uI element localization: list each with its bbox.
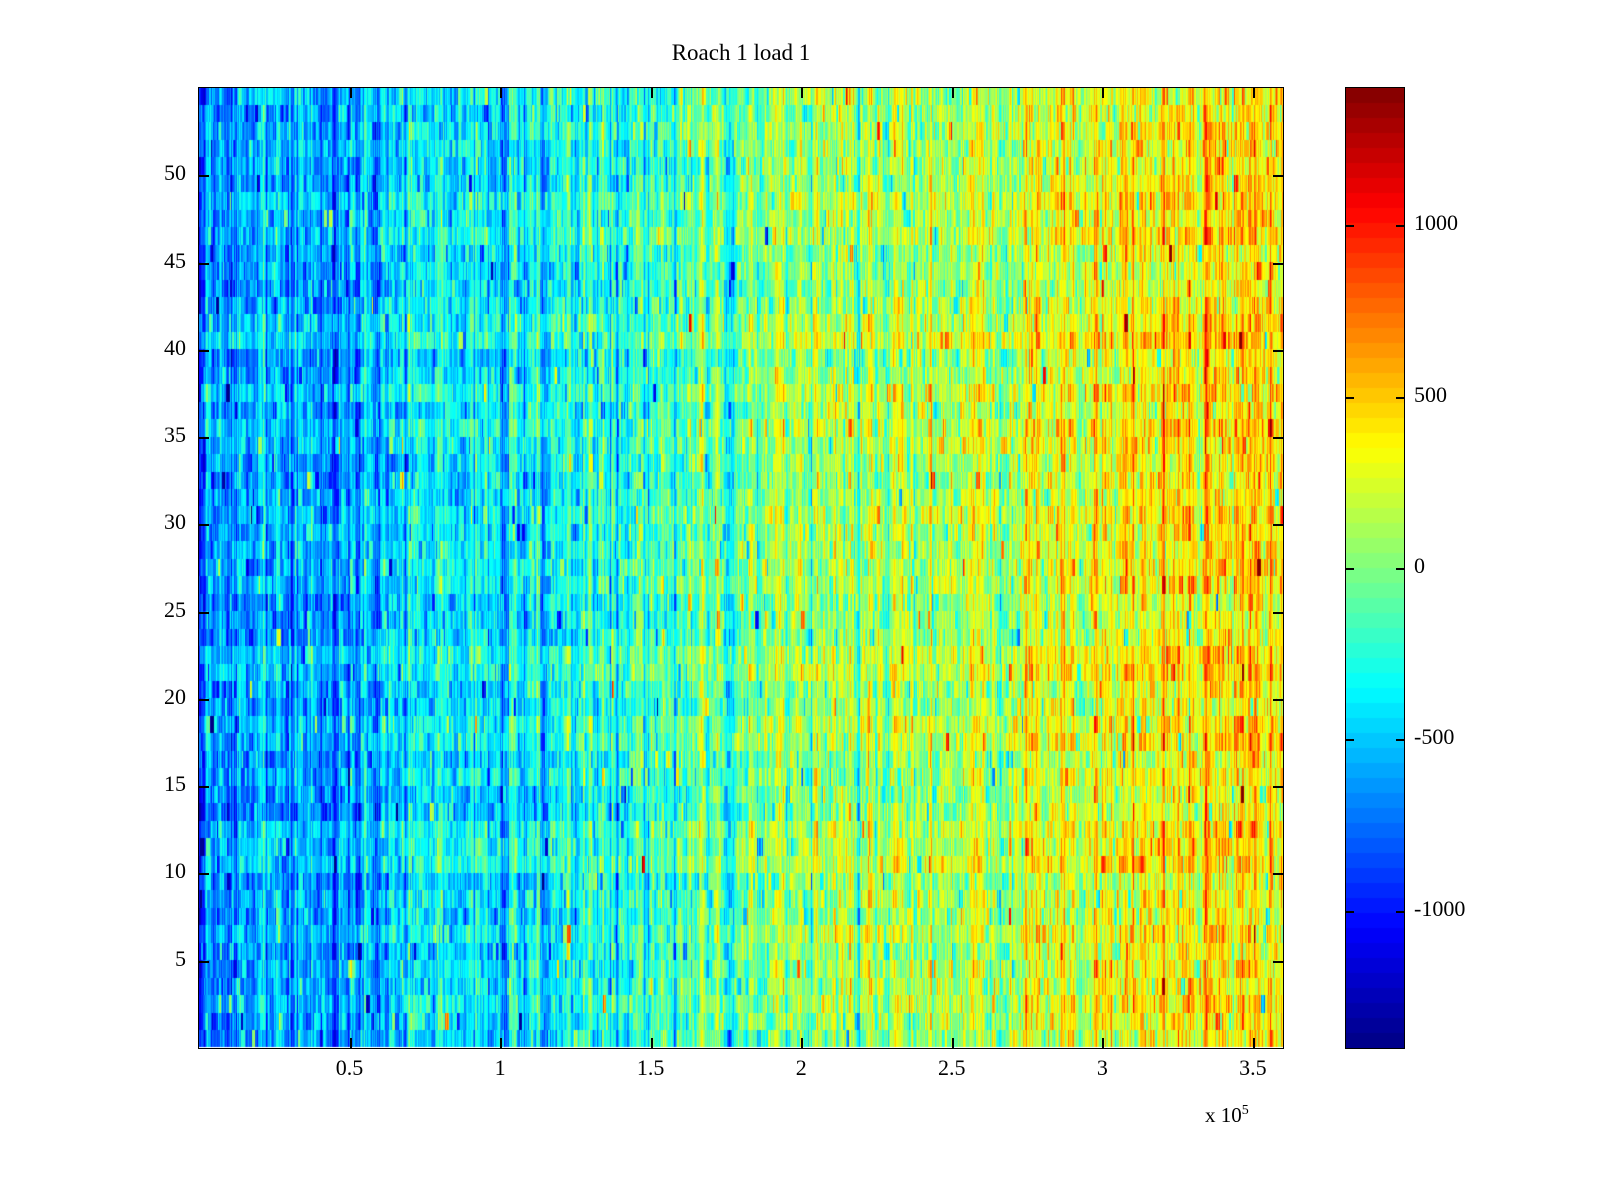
y-tick-mark-right (1273, 437, 1284, 439)
y-tick-mark-right (1273, 873, 1284, 875)
y-tick-mark-right (1273, 175, 1284, 177)
y-tick-label: 10 (116, 858, 186, 884)
colorbar-tick-mark-left (1345, 911, 1354, 913)
colorbar-tick-mark-right (1396, 225, 1405, 227)
y-tick-mark (198, 612, 209, 614)
y-tick-mark (198, 263, 209, 265)
x-tick-mark (952, 1038, 954, 1049)
heatmap-axes (198, 87, 1284, 1049)
colorbar-tick-mark-left (1345, 739, 1354, 741)
y-tick-label: 35 (116, 422, 186, 448)
y-tick-label: 20 (116, 684, 186, 710)
colorbar-tick-mark-left (1345, 568, 1354, 570)
y-tick-label: 40 (116, 335, 186, 361)
x-tick-mark (500, 1038, 502, 1049)
colorbar-tick-label: 1000 (1414, 210, 1458, 236)
y-tick-mark (198, 175, 209, 177)
y-tick-mark (198, 437, 209, 439)
y-tick-mark-right (1273, 961, 1284, 963)
y-tick-mark-right (1273, 350, 1284, 352)
y-tick-label: 15 (116, 771, 186, 797)
x-exponent-power: 5 (1242, 1103, 1249, 1118)
x-tick-label: 3 (1062, 1055, 1142, 1081)
colorbar-tick-label: 0 (1414, 553, 1425, 579)
x-tick-mark-top (651, 87, 653, 98)
y-tick-label: 5 (116, 946, 186, 972)
colorbar-tick-label: 500 (1414, 382, 1447, 408)
x-tick-mark (1102, 1038, 1104, 1049)
y-tick-mark-right (1273, 699, 1284, 701)
x-tick-mark-top (952, 87, 954, 98)
colorbar-tick-mark-right (1396, 397, 1405, 399)
x-tick-mark-top (500, 87, 502, 98)
colorbar-tick-mark-left (1345, 397, 1354, 399)
x-tick-label: 3.5 (1213, 1055, 1293, 1081)
x-tick-mark-top (1253, 87, 1255, 98)
colorbar-tick-label: -500 (1414, 724, 1454, 750)
x-tick-label: 1.5 (611, 1055, 691, 1081)
y-tick-label: 50 (116, 160, 186, 186)
x-tick-label: 0.5 (310, 1055, 390, 1081)
colorbar-tick-mark-right (1396, 739, 1405, 741)
x-exponent-base: x 10 (1205, 1103, 1242, 1127)
x-tick-mark-top (350, 87, 352, 98)
y-tick-label: 45 (116, 248, 186, 274)
x-tick-mark (1253, 1038, 1255, 1049)
y-tick-mark (198, 873, 209, 875)
x-tick-mark-top (1102, 87, 1104, 98)
page-title: Roach 1 load 1 (198, 40, 1284, 66)
figure-canvas: Roach 1 load 1 51015202530354045500.511.… (0, 0, 1600, 1200)
y-tick-mark (198, 524, 209, 526)
x-tick-label: 1 (460, 1055, 540, 1081)
y-tick-mark-right (1273, 612, 1284, 614)
colorbar-tick-label: -1000 (1414, 896, 1465, 922)
y-tick-label: 30 (116, 509, 186, 535)
y-tick-mark-right (1273, 786, 1284, 788)
x-tick-label: 2 (761, 1055, 841, 1081)
x-tick-mark-top (801, 87, 803, 98)
colorbar-tick-mark-right (1396, 568, 1405, 570)
y-tick-mark (198, 961, 209, 963)
y-tick-mark-right (1273, 263, 1284, 265)
x-tick-mark (350, 1038, 352, 1049)
y-tick-mark-right (1273, 524, 1284, 526)
heatmap-image (199, 88, 1283, 1048)
x-axis-exponent-label: x 105 (1205, 1103, 1249, 1128)
colorbar-tick-mark-left (1345, 225, 1354, 227)
x-tick-mark (801, 1038, 803, 1049)
x-tick-label: 2.5 (912, 1055, 992, 1081)
y-tick-mark (198, 699, 209, 701)
y-tick-label: 25 (116, 597, 186, 623)
y-tick-mark (198, 350, 209, 352)
y-tick-mark (198, 786, 209, 788)
colorbar-tick-mark-right (1396, 911, 1405, 913)
x-tick-mark (651, 1038, 653, 1049)
